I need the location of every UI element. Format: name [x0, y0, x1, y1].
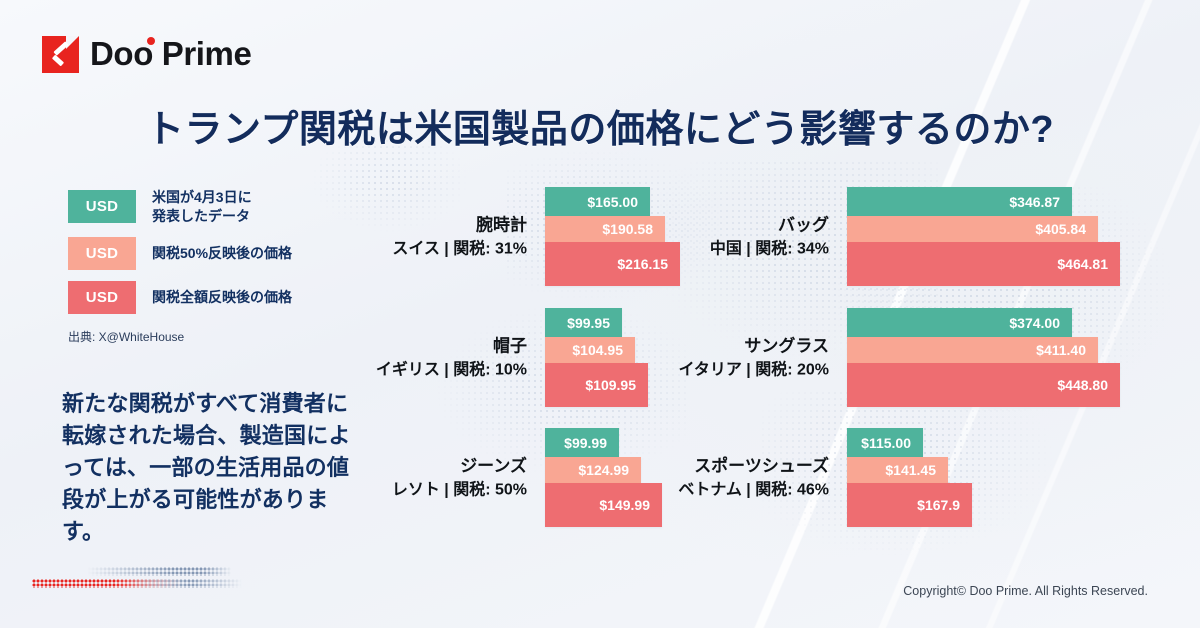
copyright-notice: Copyright© Doo Prime. All Rights Reserve…	[903, 584, 1148, 598]
bar-announced: $99.95	[545, 308, 622, 337]
bar-half-tariff: $405.84	[847, 216, 1098, 242]
bar-stack: $346.87 $405.84 $464.81	[847, 187, 1120, 286]
group-label: ジーンズ レソト | 関税: 50%	[392, 453, 545, 503]
source-note: 出典: X@WhiteHouse	[68, 328, 184, 345]
bar-half-tariff: $190.58	[545, 216, 665, 242]
legend-badge-usd: USD	[68, 237, 136, 270]
legend-label: 米国が4月3日に 発表したデータ	[152, 188, 252, 226]
bar-stack: $115.00 $141.45 $167.9	[847, 428, 972, 527]
group-label: バッグ 中国 | 関税: 34%	[710, 212, 847, 262]
product-name: ジーンズ	[392, 453, 527, 479]
bar-stack: $99.95 $104.95 $109.95	[545, 308, 648, 407]
bar-half-tariff: $124.99	[545, 457, 641, 483]
summary-paragraph: 新たな関税がすべて消費者に転嫁された場合、製造国によっては、一部の生活用品の値段…	[62, 388, 362, 547]
chart-group-watch: 腕時計 スイス | 関税: 31% $165.00 $190.58 $216.1…	[545, 187, 680, 286]
product-name: 腕時計	[392, 212, 527, 238]
bar-full-tariff: $109.95	[545, 363, 648, 407]
product-meta: スイス | 関税: 31%	[392, 237, 527, 261]
product-name: 帽子	[376, 333, 527, 359]
group-label: 腕時計 スイス | 関税: 31%	[392, 212, 545, 262]
group-label: サングラス イタリア | 関税: 20%	[678, 333, 847, 383]
bar-half-tariff: $104.95	[545, 337, 635, 363]
legend: USD 米国が4月3日に 発表したデータ USD 関税50%反映後の価格 USD…	[68, 188, 368, 325]
bar-full-tariff: $448.80	[847, 363, 1120, 407]
chart-group-hat: 帽子 イギリス | 関税: 10% $99.95 $104.95 $109.95	[545, 308, 648, 407]
product-meta: 中国 | 関税: 34%	[710, 237, 829, 261]
brand-logo: Doo Prime	[42, 35, 251, 73]
bar-full-tariff: $149.99	[545, 483, 662, 527]
product-name: スポーツシューズ	[678, 453, 829, 479]
decorative-dot-bands	[32, 562, 277, 592]
bar-half-tariff: $411.40	[847, 337, 1098, 363]
logo-accent-dot-icon	[147, 37, 155, 45]
legend-badge-usd: USD	[68, 190, 136, 223]
bar-announced: $374.00	[847, 308, 1072, 337]
bar-announced: $115.00	[847, 428, 923, 457]
legend-label: 関税全額反映後の価格	[152, 288, 292, 307]
bar-half-tariff: $141.45	[847, 457, 948, 483]
chart-group-jeans: ジーンズ レソト | 関税: 50% $99.99 $124.99 $149.9…	[545, 428, 662, 527]
bar-stack: $374.00 $411.40 $448.80	[847, 308, 1120, 407]
bar-full-tariff: $216.15	[545, 242, 680, 286]
product-name: サングラス	[678, 333, 829, 359]
legend-badge-usd: USD	[68, 281, 136, 314]
bar-announced: $99.99	[545, 428, 619, 457]
chart-group-sports-shoes: スポーツシューズ ベトナム | 関税: 46% $115.00 $141.45 …	[847, 428, 972, 527]
group-label: スポーツシューズ ベトナム | 関税: 46%	[678, 453, 847, 503]
product-meta: イギリス | 関税: 10%	[376, 358, 527, 382]
infographic-page: Doo Prime トランプ関税は米国製品の価格にどう影響するのか? USD 米…	[0, 0, 1200, 628]
bar-stack: $99.99 $124.99 $149.99	[545, 428, 662, 527]
bar-full-tariff: $464.81	[847, 242, 1120, 286]
bar-announced: $346.87	[847, 187, 1072, 216]
bar-announced: $165.00	[545, 187, 650, 216]
bar-stack: $165.00 $190.58 $216.15	[545, 187, 680, 286]
legend-item-full-tariff: USD 関税全額反映後の価格	[68, 281, 368, 314]
chart-group-bag: バッグ 中国 | 関税: 34% $346.87 $405.84 $464.81	[847, 187, 1120, 286]
legend-item-announced: USD 米国が4月3日に 発表したデータ	[68, 188, 368, 226]
product-meta: イタリア | 関税: 20%	[678, 358, 829, 382]
legend-label: 関税50%反映後の価格	[152, 244, 292, 263]
legend-item-half-tariff: USD 関税50%反映後の価格	[68, 237, 368, 270]
brand-name: Doo Prime	[90, 35, 251, 73]
page-title: トランプ関税は米国製品の価格にどう影響するのか?	[0, 98, 1200, 153]
bar-full-tariff: $167.9	[847, 483, 972, 527]
doo-prime-mark-icon	[42, 36, 79, 73]
product-name: バッグ	[710, 212, 829, 238]
product-meta: レソト | 関税: 50%	[392, 478, 527, 502]
chart-group-sunglasses: サングラス イタリア | 関税: 20% $374.00 $411.40 $44…	[847, 308, 1120, 407]
product-meta: ベトナム | 関税: 46%	[678, 478, 829, 502]
group-label: 帽子 イギリス | 関税: 10%	[376, 333, 545, 383]
